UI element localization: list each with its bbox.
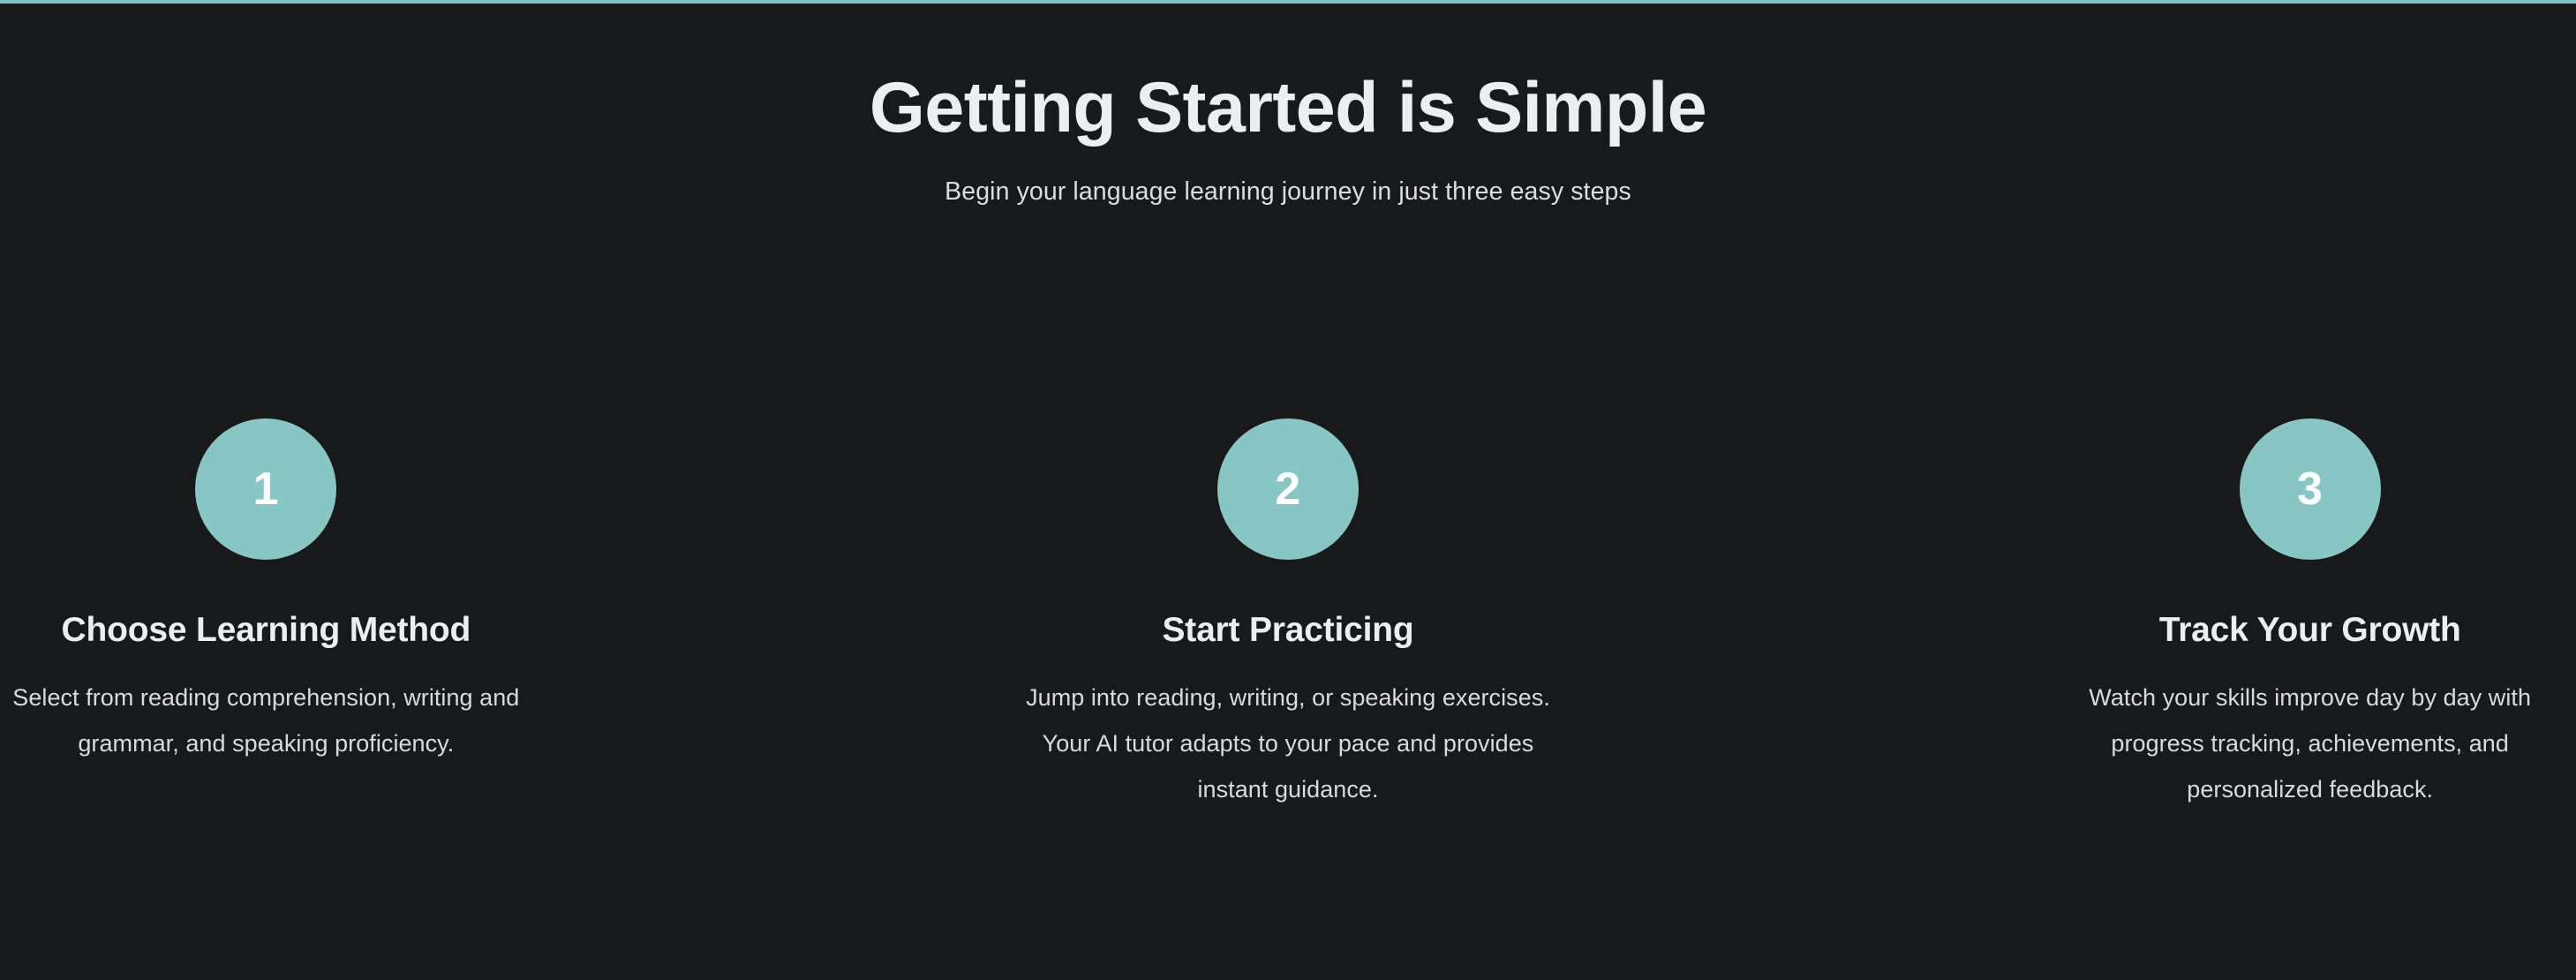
step-card-1: 1 Choose Learning Method Select from rea…	[0, 418, 532, 766]
step-description-1: Select from reading comprehension, writi…	[1, 675, 531, 766]
step-badge-1: 1	[195, 418, 336, 560]
steps-list: 1 Choose Learning Method Select from rea…	[0, 418, 2576, 812]
step-badge-3: 3	[2240, 418, 2381, 560]
getting-started-section: Getting Started is Simple Begin your lan…	[0, 0, 2576, 980]
step-description-2: Jump into reading, writing, or speaking …	[1023, 675, 1553, 812]
step-title-2: Start Practicing	[1162, 611, 1413, 651]
step-description-3: Watch your skills improve day by day wit…	[2045, 675, 2575, 812]
step-number-3: 3	[2297, 466, 2323, 512]
step-card-3: 3 Track Your Growth Watch your skills im…	[2044, 418, 2576, 812]
section-subtitle: Begin your language learning journey in …	[0, 176, 2576, 208]
page-title: Getting Started is Simple	[0, 71, 2576, 146]
step-card-2: 2 Start Practicing Jump into reading, wr…	[1022, 418, 1555, 812]
step-number-1: 1	[253, 466, 279, 512]
step-badge-2: 2	[1217, 418, 1359, 560]
step-title-1: Choose Learning Method	[62, 611, 471, 651]
step-number-2: 2	[1275, 466, 1300, 512]
step-title-3: Track Your Growth	[2159, 611, 2461, 651]
section-header: Getting Started is Simple Begin your lan…	[0, 4, 2576, 208]
